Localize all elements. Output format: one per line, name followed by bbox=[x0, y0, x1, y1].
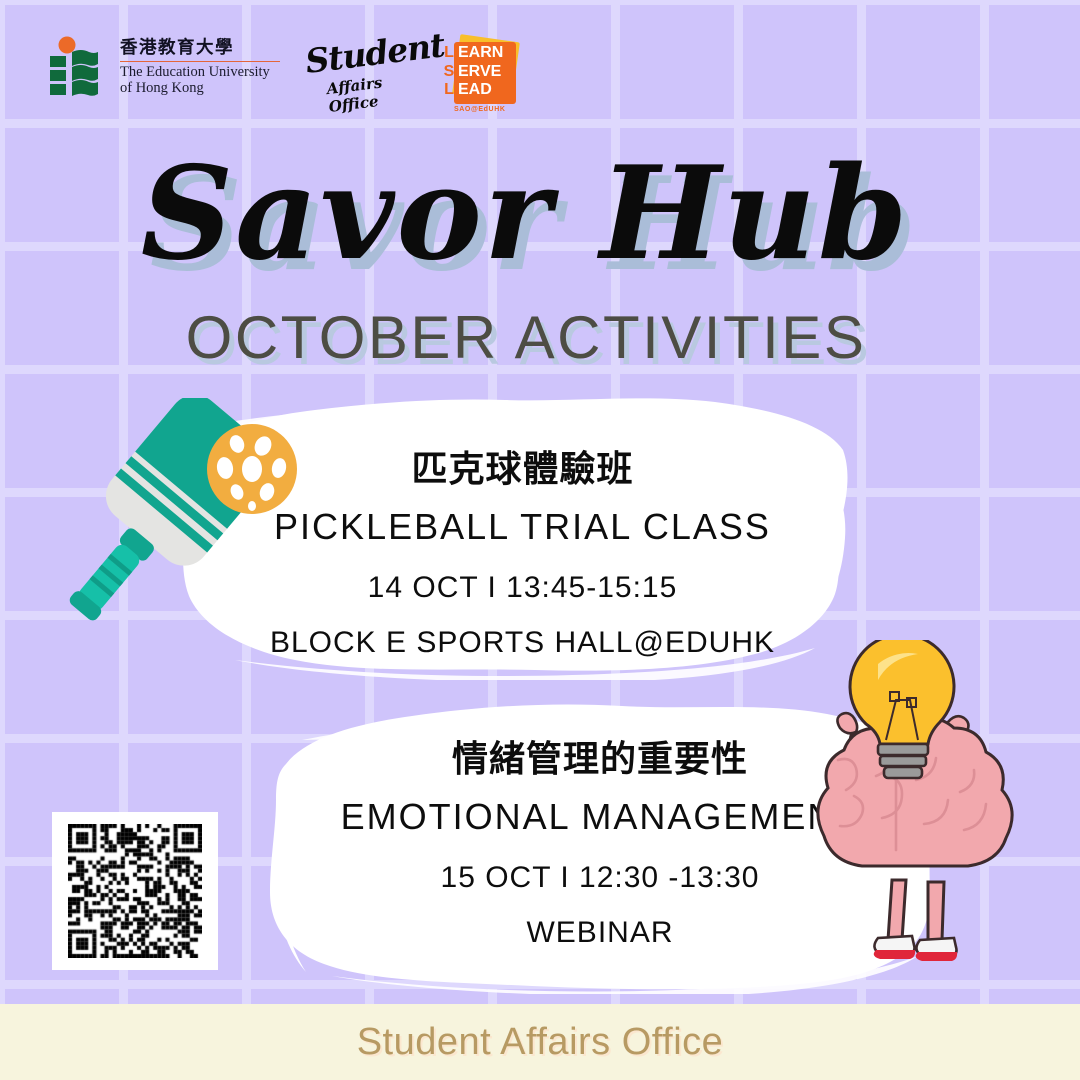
lsl-side-letters: LSL bbox=[442, 44, 456, 100]
event-1-datetime: 14 OCT I 13:45-15:15 bbox=[250, 568, 795, 607]
eduhk-divider bbox=[120, 61, 280, 63]
lsl-subtitle: SAO@EdUHK bbox=[454, 106, 506, 113]
brain-character-icon bbox=[800, 640, 1080, 982]
pickleball-paddle-icon bbox=[55, 398, 305, 670]
eduhk-chinese-name: 香港教育大學 bbox=[120, 40, 280, 58]
poster-canvas: 香港教育大學 The Education University of Hong … bbox=[0, 0, 1080, 1080]
event-1-title-english: PICKLEBALL TRIAL CLASS bbox=[250, 503, 795, 552]
lsl-main-words: EARNERVEEAD bbox=[458, 44, 503, 100]
eduhk-english-name-line2: of Hong Kong bbox=[120, 80, 280, 96]
eduhk-english-name-line1: The Education University bbox=[120, 64, 280, 80]
eduhk-logo: 香港教育大學 The Education University of Hong … bbox=[46, 36, 286, 108]
event-2-title-english: EMOTIONAL MANAGEMENT bbox=[330, 793, 870, 842]
event-1-title-chinese: 匹克球體驗班 bbox=[250, 448, 795, 491]
page-subtitle: OCTOBER ACTIVITIES bbox=[0, 308, 1080, 368]
registration-qr-code[interactable] bbox=[52, 812, 218, 970]
event-2-title-chinese: 情緒管理的重要性 bbox=[330, 738, 870, 781]
event-1-venue: BLOCK E SPORTS HALL@EDUHK bbox=[250, 623, 795, 662]
event-card-pickleball: 匹克球體驗班 PICKLEBALL TRIAL CLASS 14 OCT I 1… bbox=[250, 448, 795, 662]
eduhk-logo-mark bbox=[46, 36, 110, 108]
event-card-emotional-management: 情緒管理的重要性 EMOTIONAL MANAGEMENT 15 OCT I 1… bbox=[330, 738, 870, 952]
eduhk-logo-text: 香港教育大學 The Education University of Hong … bbox=[120, 36, 280, 97]
event-2-venue: WEBINAR bbox=[330, 913, 870, 952]
page-title: Savor Hub bbox=[0, 150, 1080, 278]
student-affairs-office-logo: Student Affairs Office bbox=[304, 36, 424, 112]
learn-serve-lead-logo: LSL EARNERVEEAD SAO@EdUHK bbox=[440, 36, 526, 120]
header-logo-row: 香港教育大學 The Education University of Hong … bbox=[46, 36, 526, 120]
event-2-datetime: 15 OCT I 12:30 -13:30 bbox=[330, 858, 870, 897]
footer-label: Student Affairs Office bbox=[357, 1021, 724, 1064]
footer-bar: Student Affairs Office bbox=[0, 1004, 1080, 1080]
